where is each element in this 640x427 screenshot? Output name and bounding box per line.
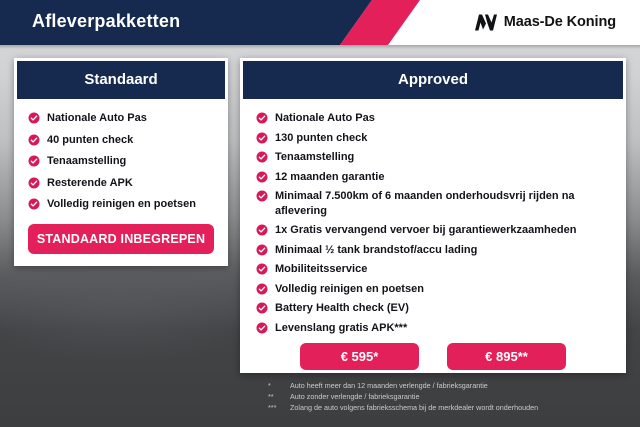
list-item: 40 punten check [28,133,214,148]
list-item: Nationale Auto Pas [256,111,610,126]
feature-label: Nationale Auto Pas [47,111,147,126]
check-circle-icon [28,134,40,146]
footnote-mark: * [268,380,290,391]
check-circle-icon [256,244,268,256]
footnote-text: Auto zonder verlengde / fabrieksgarantie [290,391,628,402]
feature-label: Volledig reinigen en poetsen [47,197,196,212]
list-item: Nationale Auto Pas [28,111,214,126]
feature-label: Volledig reinigen en poetsen [275,282,424,297]
footnote-mark: *** [268,402,290,413]
check-circle-icon [28,198,40,210]
list-item: Minimaal ½ tank brandstof/accu lading [256,243,610,258]
feature-label: 12 maanden garantie [275,170,384,185]
check-circle-icon [256,283,268,295]
card-body-standaard: Nationale Auto Pas 40 punten check Tenaa… [14,99,228,254]
check-circle-icon [256,132,268,144]
afleverpakketten-page: Afleverpakketten Maas-De Koning Standaar… [0,0,640,427]
feature-label: Battery Health check (EV) [275,301,409,316]
list-item: Volledig reinigen en poetsen [28,197,214,212]
list-item: 130 punten check [256,131,610,146]
footnote-single-asterisk: * Auto heeft meer dan 12 maanden verleng… [268,380,628,391]
card-body-approved: Nationale Auto Pas 130 punten check Tena… [240,99,626,370]
check-circle-icon [28,112,40,124]
price-button-595[interactable]: € 595* [300,343,419,370]
check-circle-icon [256,263,268,275]
list-item: Levenslang gratis APK*** [256,321,610,336]
list-item: Volledig reinigen en poetsen [256,282,610,297]
footnotes: * Auto heeft meer dan 12 maanden verleng… [268,380,628,413]
feature-label: Levenslang gratis APK*** [275,321,407,336]
feature-label: 40 punten check [47,133,133,148]
check-circle-icon [28,177,40,189]
feature-label: 130 punten check [275,131,367,146]
brand-name: Maas-De Koning [504,14,616,30]
page-header: Afleverpakketten Maas-De Koning [0,0,640,45]
package-card-approved: Approved Nationale Auto Pas 130 punten c… [240,58,626,373]
list-item: 1x Gratis vervangend vervoer bij garanti… [256,223,610,238]
list-item: Tenaamstelling [28,154,214,169]
footnote-text: Zolang de auto volgens fabrieksschema bi… [290,402,628,413]
feature-label: Mobiliteitsservice [275,262,367,277]
header-shadow [0,45,640,49]
list-item: Battery Health check (EV) [256,301,610,316]
feature-list-approved: Nationale Auto Pas 130 punten check Tena… [256,111,610,335]
check-circle-icon [256,190,268,202]
check-circle-icon [256,112,268,124]
maas-de-koning-logo-icon [475,12,497,32]
brand-lockup: Maas-De Koning [475,12,616,32]
footnote-mark: ** [268,391,290,402]
card-title-standaard: Standaard [17,61,225,99]
feature-label: Tenaamstelling [275,150,354,165]
check-circle-icon [28,155,40,167]
list-item: Resterende APK [28,176,214,191]
feature-label: Minimaal ½ tank brandstof/accu lading [275,243,477,258]
feature-label: Nationale Auto Pas [275,111,375,126]
feature-label: Resterende APK [47,176,133,191]
feature-label: Tenaamstelling [47,154,126,169]
list-item: Tenaamstelling [256,150,610,165]
check-circle-icon [256,171,268,183]
standaard-inbegrepen-button[interactable]: STANDAARD INBEGREPEN [28,224,214,254]
check-circle-icon [256,302,268,314]
package-card-standaard: Standaard Nationale Auto Pas 40 punten c… [14,58,228,266]
feature-label: 1x Gratis vervangend vervoer bij garanti… [275,223,576,238]
list-item: 12 maanden garantie [256,170,610,185]
feature-label: Minimaal 7.500km of 6 maanden onderhouds… [275,189,610,218]
check-circle-icon [256,322,268,334]
feature-list-standaard: Nationale Auto Pas 40 punten check Tenaa… [28,111,214,212]
check-circle-icon [256,151,268,163]
list-item: Mobiliteitsservice [256,262,610,277]
price-button-row: € 595* € 895** [256,343,610,370]
footnote-triple-asterisk: *** Zolang de auto volgens fabrieksschem… [268,402,628,413]
footnote-text: Auto heeft meer dan 12 maanden verlengde… [290,380,628,391]
price-button-895[interactable]: € 895** [447,343,566,370]
card-title-approved: Approved [243,61,623,99]
check-circle-icon [256,224,268,236]
footnote-double-asterisk: ** Auto zonder verlengde / fabrieksgaran… [268,391,628,402]
page-title: Afleverpakketten [32,11,180,32]
list-item: Minimaal 7.500km of 6 maanden onderhouds… [256,189,610,218]
